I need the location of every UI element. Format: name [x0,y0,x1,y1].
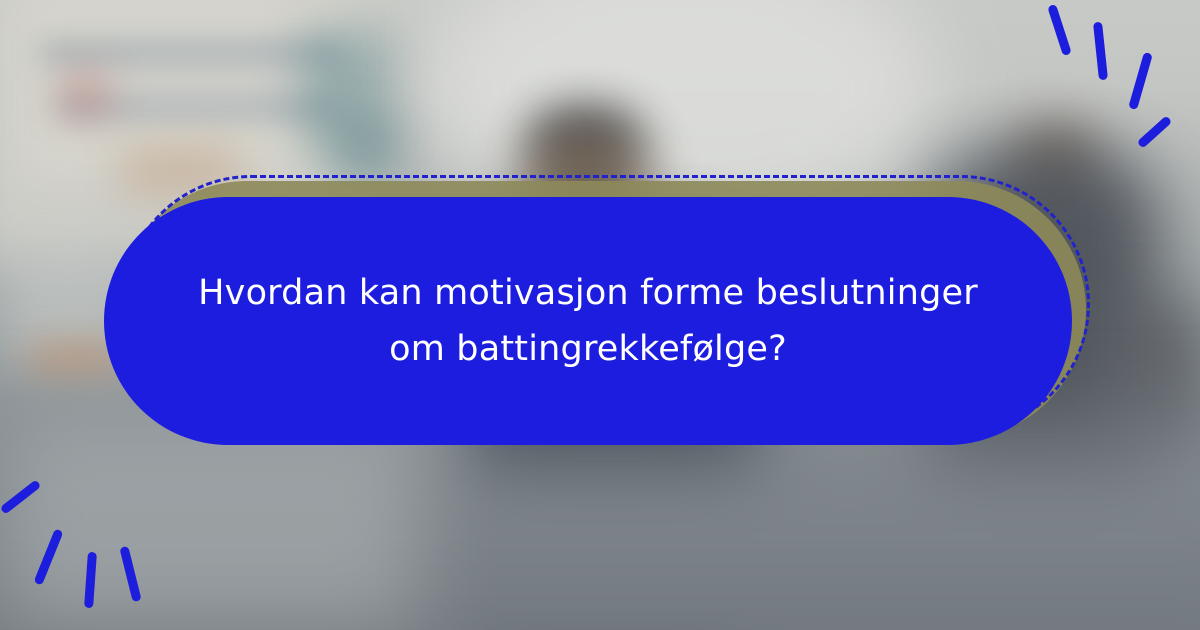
headline-banner: Hvordan kan motivasjon forme beslutninge… [104,175,1094,450]
background-red-accent-blob [60,70,110,120]
social-card: Hvordan kan motivasjon forme beslutninge… [0,0,1200,630]
banner-body: Hvordan kan motivasjon forme beslutninge… [104,197,1072,445]
headline-text: Hvordan kan motivasjon forme beslutninge… [118,265,1058,377]
background-window-row-blob [40,40,340,66]
